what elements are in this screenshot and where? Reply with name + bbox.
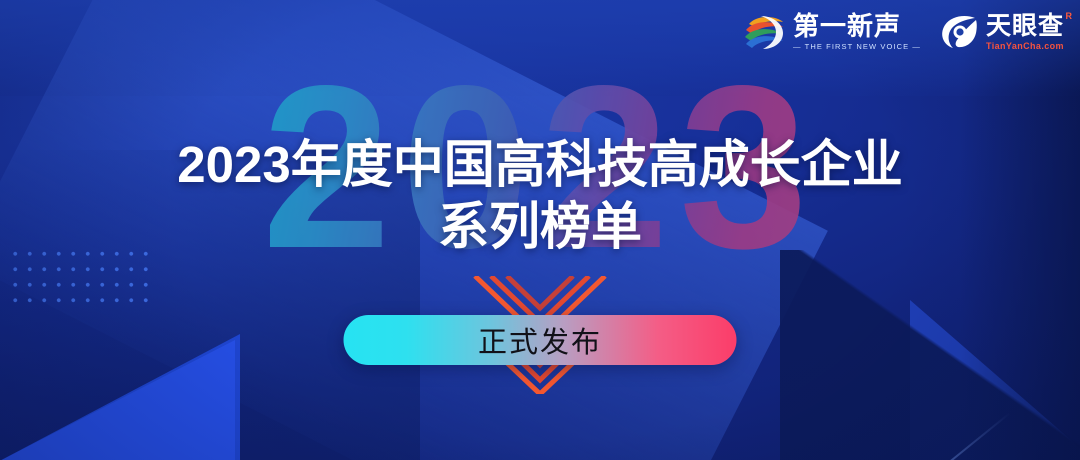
logo-tianyancha-name: 天眼查 R [986, 14, 1064, 39]
title-line-1: 2023年度中国高科技高成长企业 [0, 134, 1080, 196]
registered-trademark-icon: R [1066, 12, 1074, 21]
release-badge-label: 正式发布 [478, 319, 602, 361]
logo-diyixinsheng-text: 第一新声 — THE FIRST NEW VOICE — [793, 13, 921, 51]
page-title: 2023年度中国高科技高成长企业 系列榜单 [0, 134, 1080, 258]
logo-tianyancha-tagline: TianYanCha.com [986, 42, 1064, 51]
logo-tianyancha[interactable]: 天眼查 R TianYanCha.com [939, 12, 1064, 52]
logo-diyixinsheng-name: 第一新声 [793, 13, 921, 39]
logo-bar: 第一新声 — THE FIRST NEW VOICE — 天眼查 R TianY… [742, 12, 1064, 52]
logo-diyixinsheng[interactable]: 第一新声 — THE FIRST NEW VOICE — [742, 12, 921, 52]
release-badge[interactable]: 正式发布 [344, 315, 737, 365]
logo-tianyancha-name-text: 天眼查 [986, 12, 1064, 40]
logo-tianyancha-text: 天眼查 R TianYanCha.com [986, 14, 1064, 51]
title-line-2: 系列榜单 [0, 196, 1080, 258]
poster-canvas: 2023 2023年度中国高科技高成长企业 系列榜单 正式发布 [0, 0, 1080, 460]
logo-diyixinsheng-tagline: — THE FIRST NEW VOICE — [793, 43, 921, 51]
swirl-ribbon-logo-icon [742, 12, 786, 52]
eye-lens-logo-icon [939, 12, 979, 52]
